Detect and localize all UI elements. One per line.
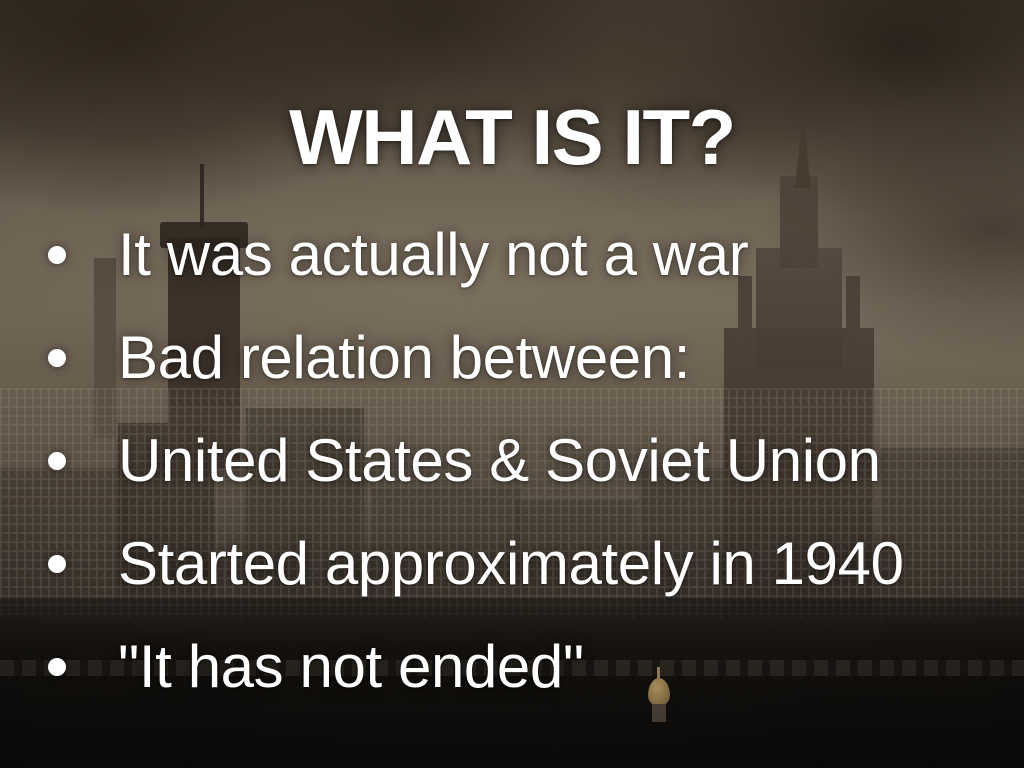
bullet-item-4: Started approximately in 1940 [0, 512, 1024, 615]
bullet-marker-icon [48, 246, 66, 264]
presentation-slide: WHAT IS IT? It was actually not a war Ba… [0, 0, 1024, 768]
slide-content: WHAT IS IT? It was actually not a war Ba… [0, 0, 1024, 768]
bullet-item-5: "It has not ended" [0, 615, 1024, 718]
bullet-list: It was actually not a war Bad relation b… [0, 203, 1024, 718]
bullet-text: "It has not ended" [118, 635, 584, 698]
bullet-marker-icon [48, 555, 66, 573]
bullet-text: It was actually not a war [118, 223, 748, 286]
bullet-marker-icon [48, 658, 66, 676]
slide-title: WHAT IS IT? [0, 98, 1024, 176]
bullet-marker-icon [48, 452, 66, 470]
bullet-text: United States & Soviet Union [118, 429, 881, 492]
bullet-text: Bad relation between: [118, 326, 690, 389]
bullet-marker-icon [48, 349, 66, 367]
bullet-item-1: It was actually not a war [0, 203, 1024, 306]
bullet-item-2: Bad relation between: [0, 306, 1024, 409]
bullet-text: Started approximately in 1940 [118, 532, 904, 595]
bullet-item-3: United States & Soviet Union [0, 409, 1024, 512]
